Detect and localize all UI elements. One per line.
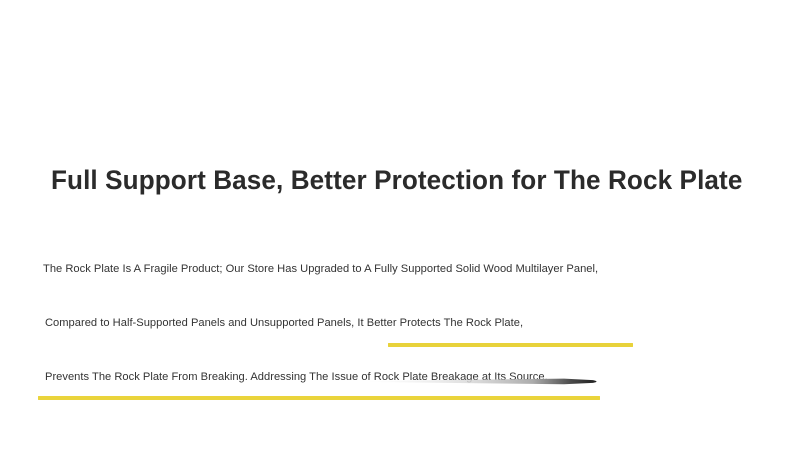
body-line-1: The Rock Plate Is A Fragile Product; Our… xyxy=(43,261,598,277)
body-copy-block: The Rock Plate Is A Fragile Product; Our… xyxy=(0,0,790,449)
body-line-3: Prevents The Rock Plate From Breaking. A… xyxy=(45,369,548,385)
lower-yellow-rule xyxy=(38,396,600,400)
page-title: Full Support Base, Better Protection for… xyxy=(51,163,731,197)
upper-yellow-rule xyxy=(388,343,633,347)
product-feature-banner: Full Support Base, Better Protection for… xyxy=(0,0,790,449)
body-line-2: Compared to Half-Supported Panels and Un… xyxy=(45,315,523,331)
